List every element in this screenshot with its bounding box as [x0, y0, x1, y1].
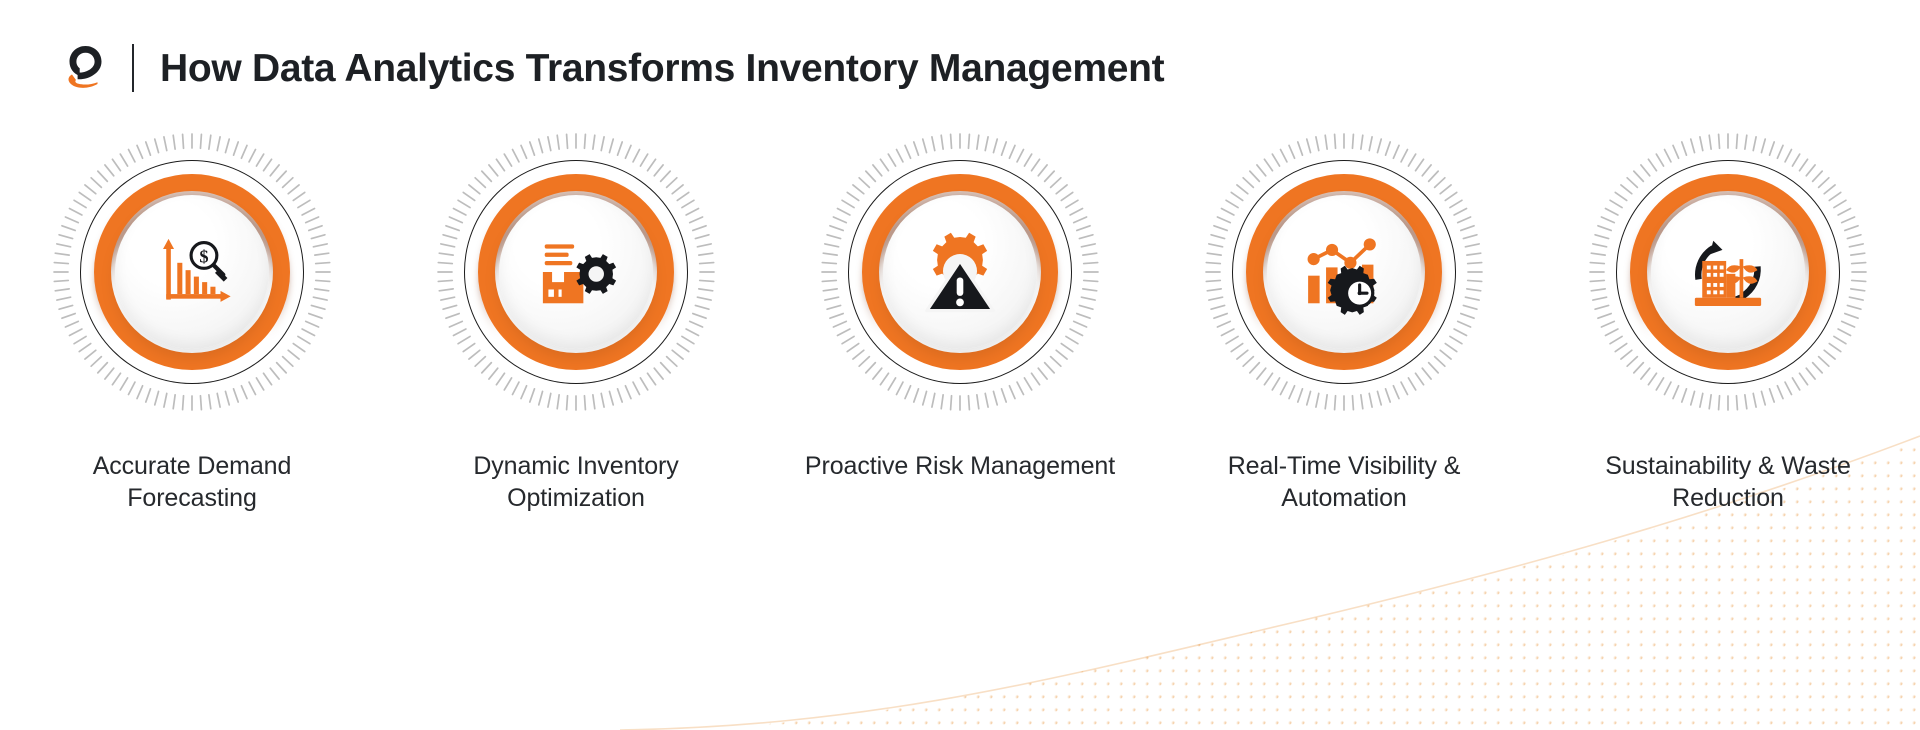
header-divider	[132, 44, 134, 92]
badge-circle	[1588, 132, 1868, 412]
step-item-inventory-optimization[interactable]: Dynamic Inventory Optimization	[384, 132, 768, 514]
badge-inner-disc	[1651, 195, 1805, 349]
badge-inner-disc	[1267, 195, 1421, 349]
step-item-risk-management[interactable]: Proactive Risk Management	[768, 132, 1152, 514]
declining-bar-chart-with-dollar-magnifier-icon: $	[146, 226, 238, 318]
gear-with-warning-triangle-icon	[914, 226, 1006, 318]
step-caption: Dynamic Inventory Optimization	[411, 450, 741, 514]
badge-circle	[1204, 132, 1484, 412]
package-box-with-gear-icon	[530, 226, 622, 318]
badge-circle	[436, 132, 716, 412]
badge-circle: $	[52, 132, 332, 412]
step-caption: Proactive Risk Management	[805, 450, 1115, 482]
page-title: How Data Analytics Transforms Inventory …	[160, 49, 1164, 88]
step-caption: Accurate Demand Forecasting	[27, 450, 357, 514]
badge-inner-disc	[499, 195, 653, 349]
step-item-sustainability[interactable]: Sustainability & Waste Reduction	[1536, 132, 1920, 514]
step-item-realtime-visibility[interactable]: Real-Time Visibility & Automation	[1152, 132, 1536, 514]
step-caption: Real-Time Visibility & Automation	[1179, 450, 1509, 514]
step-item-demand-forecasting[interactable]: $ Accurate Demand Forecasting	[0, 132, 384, 514]
page-header: How Data Analytics Transforms Inventory …	[62, 36, 1164, 100]
factory-with-plant-recycle-arrows-icon	[1682, 226, 1774, 318]
badge-inner-disc: $	[115, 195, 269, 349]
step-caption: Sustainability & Waste Reduction	[1563, 450, 1893, 514]
badge-inner-disc	[883, 195, 1037, 349]
steps-row: $ Accurate Demand Forecasting	[0, 132, 1920, 514]
svg-text:$: $	[199, 246, 208, 266]
bar-chart-trendline-with-clock-icon	[1298, 226, 1390, 318]
brand-logo-icon[interactable]	[62, 39, 108, 97]
badge-circle	[820, 132, 1100, 412]
